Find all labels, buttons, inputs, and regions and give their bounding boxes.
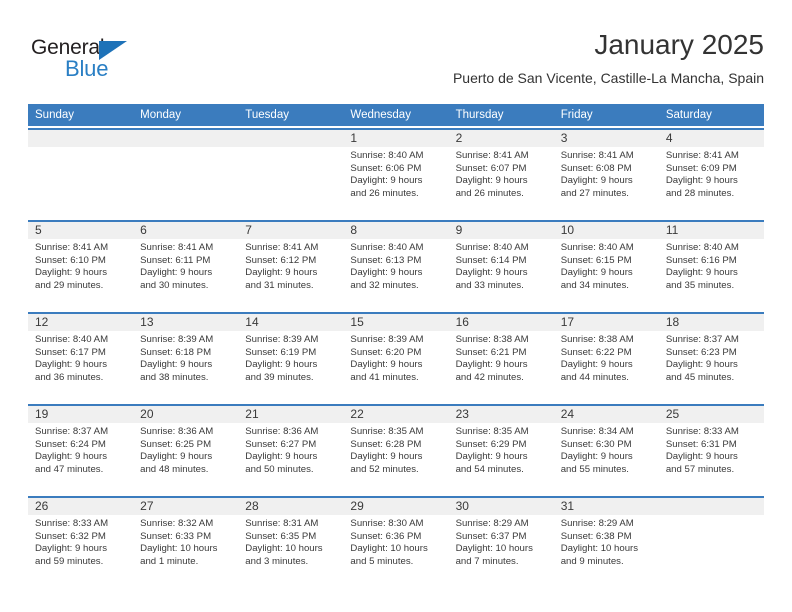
day-cell[interactable]: Sunrise: 8:30 AM Sunset: 6:36 PM Dayligh… bbox=[343, 515, 448, 586]
sunset-text: Sunset: 6:16 PM bbox=[666, 255, 759, 268]
daylight-text-line2: and 59 minutes. bbox=[35, 556, 128, 569]
logo-text-blue: Blue bbox=[65, 56, 108, 82]
sunrise-text: Sunrise: 8:33 AM bbox=[35, 518, 128, 531]
day-cell[interactable]: Sunrise: 8:37 AM Sunset: 6:23 PM Dayligh… bbox=[659, 331, 764, 402]
daylight-text-line2: and 1 minute. bbox=[140, 556, 233, 569]
day-number[interactable]: 24 bbox=[554, 406, 659, 423]
sunrise-text: Sunrise: 8:32 AM bbox=[140, 518, 233, 531]
daylight-text-line2: and 42 minutes. bbox=[456, 372, 549, 385]
sunset-text: Sunset: 6:32 PM bbox=[35, 531, 128, 544]
daylight-text-line2: and 57 minutes. bbox=[666, 464, 759, 477]
daylight-text-line1: Daylight: 10 hours bbox=[456, 543, 549, 556]
week-detail-strip: Sunrise: 8:40 AM Sunset: 6:17 PM Dayligh… bbox=[28, 331, 764, 402]
day-cell[interactable] bbox=[659, 515, 764, 586]
sunrise-text: Sunrise: 8:38 AM bbox=[561, 334, 654, 347]
page-subtitle: Puerto de San Vicente, Castille-La Manch… bbox=[453, 68, 764, 88]
calendar-week-row: 5 6 7 8 9 10 11 Sunrise: 8:41 AM Sunset:… bbox=[28, 220, 764, 310]
day-cell[interactable]: Sunrise: 8:41 AM Sunset: 6:07 PM Dayligh… bbox=[449, 147, 554, 218]
daylight-text-line1: Daylight: 10 hours bbox=[350, 543, 443, 556]
day-cell[interactable]: Sunrise: 8:40 AM Sunset: 6:17 PM Dayligh… bbox=[28, 331, 133, 402]
sunrise-text: Sunrise: 8:41 AM bbox=[35, 242, 128, 255]
daylight-text-line1: Daylight: 9 hours bbox=[35, 267, 128, 280]
day-number[interactable]: 3 bbox=[554, 130, 659, 147]
day-number[interactable]: 14 bbox=[238, 314, 343, 331]
sunset-text: Sunset: 6:12 PM bbox=[245, 255, 338, 268]
day-cell[interactable] bbox=[238, 147, 343, 218]
sunrise-text: Sunrise: 8:40 AM bbox=[35, 334, 128, 347]
sunset-text: Sunset: 6:28 PM bbox=[350, 439, 443, 452]
day-number[interactable]: 15 bbox=[343, 314, 448, 331]
calendar-week-row: 26 27 28 29 30 31 Sunrise: 8:33 AM Sunse… bbox=[28, 496, 764, 586]
sunrise-text: Sunrise: 8:38 AM bbox=[456, 334, 549, 347]
sunset-text: Sunset: 6:38 PM bbox=[561, 531, 654, 544]
day-number[interactable] bbox=[238, 130, 343, 147]
sunrise-text: Sunrise: 8:40 AM bbox=[666, 242, 759, 255]
sunrise-text: Sunrise: 8:31 AM bbox=[245, 518, 338, 531]
daylight-text-line1: Daylight: 9 hours bbox=[35, 359, 128, 372]
daylight-text-line1: Daylight: 9 hours bbox=[666, 451, 759, 464]
day-cell[interactable]: Sunrise: 8:39 AM Sunset: 6:18 PM Dayligh… bbox=[133, 331, 238, 402]
sunset-text: Sunset: 6:22 PM bbox=[561, 347, 654, 360]
daylight-text-line1: Daylight: 9 hours bbox=[666, 267, 759, 280]
daylight-text-line2: and 34 minutes. bbox=[561, 280, 654, 293]
daylight-text-line2: and 26 minutes. bbox=[350, 188, 443, 201]
sunrise-text: Sunrise: 8:33 AM bbox=[666, 426, 759, 439]
page-title: January 2025 bbox=[453, 28, 764, 62]
day-cell[interactable]: Sunrise: 8:41 AM Sunset: 6:10 PM Dayligh… bbox=[28, 239, 133, 310]
daylight-text-line2: and 38 minutes. bbox=[140, 372, 233, 385]
daylight-text-line1: Daylight: 9 hours bbox=[350, 175, 443, 188]
day-number[interactable] bbox=[659, 498, 764, 515]
daylight-text-line2: and 7 minutes. bbox=[456, 556, 549, 569]
day-number[interactable]: 12 bbox=[28, 314, 133, 331]
sunset-text: Sunset: 6:33 PM bbox=[140, 531, 233, 544]
daylight-text-line2: and 47 minutes. bbox=[35, 464, 128, 477]
daylight-text-line2: and 29 minutes. bbox=[35, 280, 128, 293]
day-cell[interactable]: Sunrise: 8:35 AM Sunset: 6:29 PM Dayligh… bbox=[449, 423, 554, 494]
sunset-text: Sunset: 6:31 PM bbox=[666, 439, 759, 452]
day-cell[interactable]: Sunrise: 8:29 AM Sunset: 6:38 PM Dayligh… bbox=[554, 515, 659, 586]
day-cell[interactable]: Sunrise: 8:31 AM Sunset: 6:35 PM Dayligh… bbox=[238, 515, 343, 586]
daylight-text-line2: and 45 minutes. bbox=[666, 372, 759, 385]
sunrise-text: Sunrise: 8:39 AM bbox=[350, 334, 443, 347]
sunset-text: Sunset: 6:23 PM bbox=[666, 347, 759, 360]
weekday-header-sunday: Sunday bbox=[28, 104, 133, 126]
daylight-text-line1: Daylight: 9 hours bbox=[561, 451, 654, 464]
day-cell[interactable]: Sunrise: 8:39 AM Sunset: 6:20 PM Dayligh… bbox=[343, 331, 448, 402]
daylight-text-line2: and 31 minutes. bbox=[245, 280, 338, 293]
day-number[interactable]: 25 bbox=[659, 406, 764, 423]
sunset-text: Sunset: 6:37 PM bbox=[456, 531, 549, 544]
page-header: General Blue January 2025 Puerto de San … bbox=[28, 28, 764, 100]
daylight-text-line2: and 5 minutes. bbox=[350, 556, 443, 569]
sunset-text: Sunset: 6:07 PM bbox=[456, 163, 549, 176]
sunrise-text: Sunrise: 8:41 AM bbox=[140, 242, 233, 255]
day-cell[interactable]: Sunrise: 8:36 AM Sunset: 6:27 PM Dayligh… bbox=[238, 423, 343, 494]
sunrise-text: Sunrise: 8:30 AM bbox=[350, 518, 443, 531]
day-cell[interactable] bbox=[28, 147, 133, 218]
day-cell[interactable]: Sunrise: 8:38 AM Sunset: 6:21 PM Dayligh… bbox=[449, 331, 554, 402]
sunrise-text: Sunrise: 8:40 AM bbox=[350, 242, 443, 255]
daylight-text-line2: and 9 minutes. bbox=[561, 556, 654, 569]
day-number[interactable]: 4 bbox=[659, 130, 764, 147]
sunset-text: Sunset: 6:21 PM bbox=[456, 347, 549, 360]
sunrise-text: Sunrise: 8:29 AM bbox=[456, 518, 549, 531]
title-block: January 2025 Puerto de San Vicente, Cast… bbox=[453, 28, 764, 88]
sunset-text: Sunset: 6:11 PM bbox=[140, 255, 233, 268]
sunset-text: Sunset: 6:17 PM bbox=[35, 347, 128, 360]
sunrise-text: Sunrise: 8:39 AM bbox=[245, 334, 338, 347]
daylight-text-line1: Daylight: 9 hours bbox=[456, 359, 549, 372]
day-number[interactable]: 28 bbox=[238, 498, 343, 515]
calendar-page: General Blue January 2025 Puerto de San … bbox=[0, 0, 792, 612]
daylight-text-line2: and 30 minutes. bbox=[140, 280, 233, 293]
weekday-header-friday: Friday bbox=[554, 104, 659, 126]
sunset-text: Sunset: 6:24 PM bbox=[35, 439, 128, 452]
sunrise-text: Sunrise: 8:36 AM bbox=[140, 426, 233, 439]
day-number[interactable]: 11 bbox=[659, 222, 764, 239]
sunset-text: Sunset: 6:30 PM bbox=[561, 439, 654, 452]
sunset-text: Sunset: 6:06 PM bbox=[350, 163, 443, 176]
day-cell[interactable]: Sunrise: 8:32 AM Sunset: 6:33 PM Dayligh… bbox=[133, 515, 238, 586]
daylight-text-line2: and 36 minutes. bbox=[35, 372, 128, 385]
day-number[interactable]: 31 bbox=[554, 498, 659, 515]
daylight-text-line1: Daylight: 9 hours bbox=[245, 267, 338, 280]
daylight-text-line2: and 52 minutes. bbox=[350, 464, 443, 477]
daylight-text-line2: and 55 minutes. bbox=[561, 464, 654, 477]
sunrise-text: Sunrise: 8:34 AM bbox=[561, 426, 654, 439]
day-cell[interactable] bbox=[133, 147, 238, 218]
daylight-text-line1: Daylight: 9 hours bbox=[35, 543, 128, 556]
sunset-text: Sunset: 6:09 PM bbox=[666, 163, 759, 176]
sunrise-text: Sunrise: 8:40 AM bbox=[456, 242, 549, 255]
day-cell[interactable]: Sunrise: 8:33 AM Sunset: 6:32 PM Dayligh… bbox=[28, 515, 133, 586]
sunset-text: Sunset: 6:35 PM bbox=[245, 531, 338, 544]
day-number[interactable]: 8 bbox=[343, 222, 448, 239]
day-number[interactable]: 29 bbox=[343, 498, 448, 515]
sunrise-text: Sunrise: 8:41 AM bbox=[666, 150, 759, 163]
daylight-text-line1: Daylight: 9 hours bbox=[666, 359, 759, 372]
week-daynumber-strip: 5 6 7 8 9 10 11 bbox=[28, 222, 764, 239]
week-detail-strip: Sunrise: 8:40 AM Sunset: 6:06 PM Dayligh… bbox=[28, 147, 764, 218]
day-cell[interactable]: Sunrise: 8:41 AM Sunset: 6:08 PM Dayligh… bbox=[554, 147, 659, 218]
sunrise-text: Sunrise: 8:36 AM bbox=[245, 426, 338, 439]
daylight-text-line1: Daylight: 10 hours bbox=[140, 543, 233, 556]
day-number[interactable]: 1 bbox=[343, 130, 448, 147]
week-daynumber-strip: 12 13 14 15 16 17 18 bbox=[28, 314, 764, 331]
daylight-text-line1: Daylight: 9 hours bbox=[245, 451, 338, 464]
sunrise-text: Sunrise: 8:29 AM bbox=[561, 518, 654, 531]
day-cell[interactable]: Sunrise: 8:37 AM Sunset: 6:24 PM Dayligh… bbox=[28, 423, 133, 494]
day-cell[interactable]: Sunrise: 8:29 AM Sunset: 6:37 PM Dayligh… bbox=[449, 515, 554, 586]
weekday-header-saturday: Saturday bbox=[659, 104, 764, 126]
daylight-text-line1: Daylight: 9 hours bbox=[35, 451, 128, 464]
day-number[interactable]: 20 bbox=[133, 406, 238, 423]
day-number[interactable] bbox=[28, 130, 133, 147]
sunset-text: Sunset: 6:14 PM bbox=[456, 255, 549, 268]
day-number[interactable]: 7 bbox=[238, 222, 343, 239]
day-cell[interactable]: Sunrise: 8:41 AM Sunset: 6:12 PM Dayligh… bbox=[238, 239, 343, 310]
daylight-text-line1: Daylight: 9 hours bbox=[245, 359, 338, 372]
calendar-grid: Sunday Monday Tuesday Wednesday Thursday… bbox=[28, 104, 764, 586]
daylight-text-line1: Daylight: 9 hours bbox=[350, 267, 443, 280]
weekday-header-wednesday: Wednesday bbox=[343, 104, 448, 126]
daylight-text-line2: and 32 minutes. bbox=[350, 280, 443, 293]
week-detail-strip: Sunrise: 8:41 AM Sunset: 6:10 PM Dayligh… bbox=[28, 239, 764, 310]
daylight-text-line1: Daylight: 9 hours bbox=[140, 451, 233, 464]
sunset-text: Sunset: 6:18 PM bbox=[140, 347, 233, 360]
sunrise-text: Sunrise: 8:40 AM bbox=[561, 242, 654, 255]
daylight-text-line1: Daylight: 9 hours bbox=[350, 359, 443, 372]
day-number[interactable]: 17 bbox=[554, 314, 659, 331]
sunrise-text: Sunrise: 8:41 AM bbox=[245, 242, 338, 255]
week-daynumber-strip: 1 2 3 4 bbox=[28, 130, 764, 147]
day-cell[interactable]: Sunrise: 8:35 AM Sunset: 6:28 PM Dayligh… bbox=[343, 423, 448, 494]
day-cell[interactable]: Sunrise: 8:40 AM Sunset: 6:16 PM Dayligh… bbox=[659, 239, 764, 310]
sunset-text: Sunset: 6:36 PM bbox=[350, 531, 443, 544]
day-cell[interactable]: Sunrise: 8:33 AM Sunset: 6:31 PM Dayligh… bbox=[659, 423, 764, 494]
daylight-text-line2: and 28 minutes. bbox=[666, 188, 759, 201]
calendar-week-row: 12 13 14 15 16 17 18 Sunrise: 8:40 AM Su… bbox=[28, 312, 764, 402]
day-number[interactable]: 22 bbox=[343, 406, 448, 423]
sunset-text: Sunset: 6:08 PM bbox=[561, 163, 654, 176]
daylight-text-line2: and 26 minutes. bbox=[456, 188, 549, 201]
daylight-text-line1: Daylight: 9 hours bbox=[140, 267, 233, 280]
day-number[interactable]: 18 bbox=[659, 314, 764, 331]
daylight-text-line1: Daylight: 9 hours bbox=[456, 267, 549, 280]
daylight-text-line1: Daylight: 9 hours bbox=[140, 359, 233, 372]
daylight-text-line2: and 27 minutes. bbox=[561, 188, 654, 201]
day-cell[interactable]: Sunrise: 8:40 AM Sunset: 6:06 PM Dayligh… bbox=[343, 147, 448, 218]
day-number[interactable] bbox=[133, 130, 238, 147]
sunrise-text: Sunrise: 8:41 AM bbox=[561, 150, 654, 163]
day-cell[interactable]: Sunrise: 8:40 AM Sunset: 6:14 PM Dayligh… bbox=[449, 239, 554, 310]
weekday-header-thursday: Thursday bbox=[449, 104, 554, 126]
sunset-text: Sunset: 6:15 PM bbox=[561, 255, 654, 268]
sunrise-text: Sunrise: 8:39 AM bbox=[140, 334, 233, 347]
sunrise-text: Sunrise: 8:37 AM bbox=[35, 426, 128, 439]
day-number[interactable]: 13 bbox=[133, 314, 238, 331]
day-number[interactable]: 9 bbox=[449, 222, 554, 239]
sunset-text: Sunset: 6:25 PM bbox=[140, 439, 233, 452]
daylight-text-line1: Daylight: 9 hours bbox=[456, 451, 549, 464]
daylight-text-line1: Daylight: 9 hours bbox=[350, 451, 443, 464]
sunset-text: Sunset: 6:13 PM bbox=[350, 255, 443, 268]
calendar-week-row: 19 20 21 22 23 24 25 Sunrise: 8:37 AM Su… bbox=[28, 404, 764, 494]
daylight-text-line2: and 54 minutes. bbox=[456, 464, 549, 477]
sunrise-text: Sunrise: 8:35 AM bbox=[456, 426, 549, 439]
weekday-header-tuesday: Tuesday bbox=[238, 104, 343, 126]
daylight-text-line1: Daylight: 10 hours bbox=[561, 543, 654, 556]
week-daynumber-strip: 26 27 28 29 30 31 bbox=[28, 498, 764, 515]
day-number[interactable]: 10 bbox=[554, 222, 659, 239]
daylight-text-line2: and 44 minutes. bbox=[561, 372, 654, 385]
day-number[interactable]: 27 bbox=[133, 498, 238, 515]
day-cell[interactable]: Sunrise: 8:40 AM Sunset: 6:15 PM Dayligh… bbox=[554, 239, 659, 310]
sunset-text: Sunset: 6:19 PM bbox=[245, 347, 338, 360]
day-cell[interactable]: Sunrise: 8:36 AM Sunset: 6:25 PM Dayligh… bbox=[133, 423, 238, 494]
weekday-header-row: Sunday Monday Tuesday Wednesday Thursday… bbox=[28, 104, 764, 126]
day-number[interactable]: 30 bbox=[449, 498, 554, 515]
sunset-text: Sunset: 6:10 PM bbox=[35, 255, 128, 268]
daylight-text-line2: and 39 minutes. bbox=[245, 372, 338, 385]
day-cell[interactable]: Sunrise: 8:41 AM Sunset: 6:11 PM Dayligh… bbox=[133, 239, 238, 310]
day-number[interactable]: 21 bbox=[238, 406, 343, 423]
daylight-text-line2: and 3 minutes. bbox=[245, 556, 338, 569]
calendar-week-row: 1 2 3 4 bbox=[28, 128, 764, 218]
day-cell[interactable]: Sunrise: 8:41 AM Sunset: 6:09 PM Dayligh… bbox=[659, 147, 764, 218]
sunrise-text: Sunrise: 8:40 AM bbox=[350, 150, 443, 163]
sunrise-text: Sunrise: 8:41 AM bbox=[456, 150, 549, 163]
weekday-header-monday: Monday bbox=[133, 104, 238, 126]
general-blue-logo[interactable]: General Blue bbox=[31, 36, 161, 86]
day-number[interactable]: 26 bbox=[28, 498, 133, 515]
week-daynumber-strip: 19 20 21 22 23 24 25 bbox=[28, 406, 764, 423]
daylight-text-line1: Daylight: 10 hours bbox=[245, 543, 338, 556]
day-cell[interactable]: Sunrise: 8:38 AM Sunset: 6:22 PM Dayligh… bbox=[554, 331, 659, 402]
day-cell[interactable]: Sunrise: 8:39 AM Sunset: 6:19 PM Dayligh… bbox=[238, 331, 343, 402]
day-cell[interactable]: Sunrise: 8:34 AM Sunset: 6:30 PM Dayligh… bbox=[554, 423, 659, 494]
sunset-text: Sunset: 6:20 PM bbox=[350, 347, 443, 360]
day-number[interactable]: 19 bbox=[28, 406, 133, 423]
day-cell[interactable]: Sunrise: 8:40 AM Sunset: 6:13 PM Dayligh… bbox=[343, 239, 448, 310]
daylight-text-line2: and 48 minutes. bbox=[140, 464, 233, 477]
sunrise-text: Sunrise: 8:37 AM bbox=[666, 334, 759, 347]
daylight-text-line1: Daylight: 9 hours bbox=[561, 359, 654, 372]
day-number[interactable]: 16 bbox=[449, 314, 554, 331]
daylight-text-line1: Daylight: 9 hours bbox=[561, 267, 654, 280]
week-detail-strip: Sunrise: 8:37 AM Sunset: 6:24 PM Dayligh… bbox=[28, 423, 764, 494]
daylight-text-line1: Daylight: 9 hours bbox=[456, 175, 549, 188]
day-number[interactable]: 2 bbox=[449, 130, 554, 147]
sunrise-text: Sunrise: 8:35 AM bbox=[350, 426, 443, 439]
day-number[interactable]: 5 bbox=[28, 222, 133, 239]
daylight-text-line2: and 35 minutes. bbox=[666, 280, 759, 293]
daylight-text-line1: Daylight: 9 hours bbox=[561, 175, 654, 188]
sunset-text: Sunset: 6:29 PM bbox=[456, 439, 549, 452]
daylight-text-line2: and 33 minutes. bbox=[456, 280, 549, 293]
daylight-text-line2: and 50 minutes. bbox=[245, 464, 338, 477]
day-number[interactable]: 23 bbox=[449, 406, 554, 423]
sunset-text: Sunset: 6:27 PM bbox=[245, 439, 338, 452]
daylight-text-line1: Daylight: 9 hours bbox=[666, 175, 759, 188]
week-detail-strip: Sunrise: 8:33 AM Sunset: 6:32 PM Dayligh… bbox=[28, 515, 764, 586]
day-number[interactable]: 6 bbox=[133, 222, 238, 239]
daylight-text-line2: and 41 minutes. bbox=[350, 372, 443, 385]
